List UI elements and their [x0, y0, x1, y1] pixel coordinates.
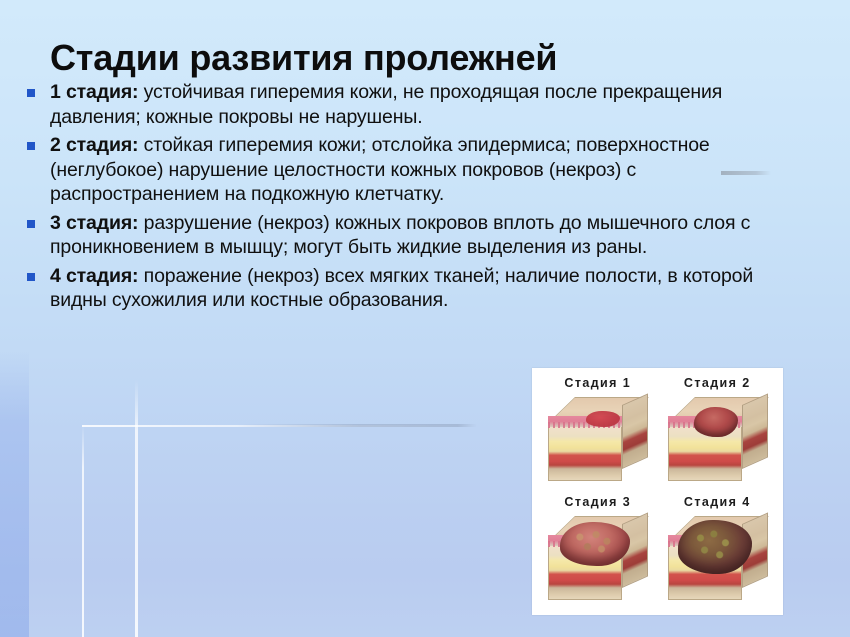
skin-cross-section-diagram [668, 397, 768, 481]
square-bullet-icon [27, 89, 35, 97]
bullet-lead-label: 1 стадия: [50, 81, 138, 103]
skin-cross-section-diagram [548, 516, 648, 600]
pressure-ulcer-stages-illustration: Стадия 1 Стадия 2 [532, 368, 783, 615]
list-item: 2 стадия: стойкая гиперемия кожи; отслой… [18, 133, 778, 207]
page-title: Стадии развития пролежней [50, 38, 810, 78]
bullet-list: 1 стадия: устойчивая гиперемия кожи, не … [18, 80, 778, 317]
skin-cross-section-diagram [548, 397, 648, 481]
bullet-lead-label: 2 стадия: [50, 134, 138, 156]
wound-lesion-stage-2 [694, 407, 738, 437]
square-bullet-icon [27, 273, 35, 281]
wound-lesion-stage-3 [560, 522, 630, 566]
wound-lesion-stage-4 [678, 520, 752, 574]
illustration-caption: Стадия 1 [538, 376, 658, 390]
square-bullet-icon [27, 220, 35, 228]
illustration-grid: Стадия 1 Стадия 2 [538, 373, 777, 610]
background-horizontal-line [82, 425, 477, 427]
bullet-lead-label: 4 стадия: [50, 265, 138, 287]
bullet-body-text: устойчивая гиперемия кожи, не проходящая… [50, 81, 722, 128]
skin-side-face [742, 393, 768, 469]
skin-cross-section-diagram [668, 516, 768, 600]
square-bullet-icon [27, 142, 35, 150]
illustration-cell-stage-4: Стадия 4 [658, 492, 778, 611]
wound-lesion-stage-1 [586, 411, 620, 427]
list-item: 1 стадия: устойчивая гиперемия кожи, не … [18, 80, 778, 129]
list-item: 3 стадия: разрушение (некроз) кожных пок… [18, 211, 778, 260]
illustration-cell-stage-3: Стадия 3 [538, 492, 658, 611]
bullet-body-text: поражение (некроз) всех мягких тканей; н… [50, 265, 753, 312]
bullet-lead-label: 3 стадия: [50, 212, 138, 234]
illustration-cell-stage-1: Стадия 1 [538, 373, 658, 492]
illustration-caption: Стадия 3 [538, 495, 658, 509]
bullet-text: 4 стадия: поражение (некроз) всех мягких… [50, 265, 753, 312]
background-vertical-line-1 [82, 425, 84, 637]
bullet-text: 3 стадия: разрушение (некроз) кожных пок… [50, 212, 750, 259]
background-horizontal-accent [237, 424, 477, 427]
illustration-caption: Стадия 2 [658, 376, 778, 390]
list-item: 4 стадия: поражение (некроз) всех мягких… [18, 264, 778, 313]
bullet-body-text: разрушение (некроз) кожных покровов впло… [50, 212, 750, 259]
slide-canvas: Стадии развития пролежней 1 стадия: усто… [0, 0, 850, 637]
skin-side-face [622, 393, 648, 469]
bullet-text: 2 стадия: стойкая гиперемия кожи; отслой… [50, 134, 710, 205]
bullet-body-text: стойкая гиперемия кожи; отслойка эпидерм… [50, 134, 710, 205]
background-vertical-line-2 [135, 380, 138, 637]
illustration-cell-stage-2: Стадия 2 [658, 373, 778, 492]
bullet-text: 1 стадия: устойчивая гиперемия кожи, не … [50, 81, 722, 128]
illustration-caption: Стадия 4 [658, 495, 778, 509]
